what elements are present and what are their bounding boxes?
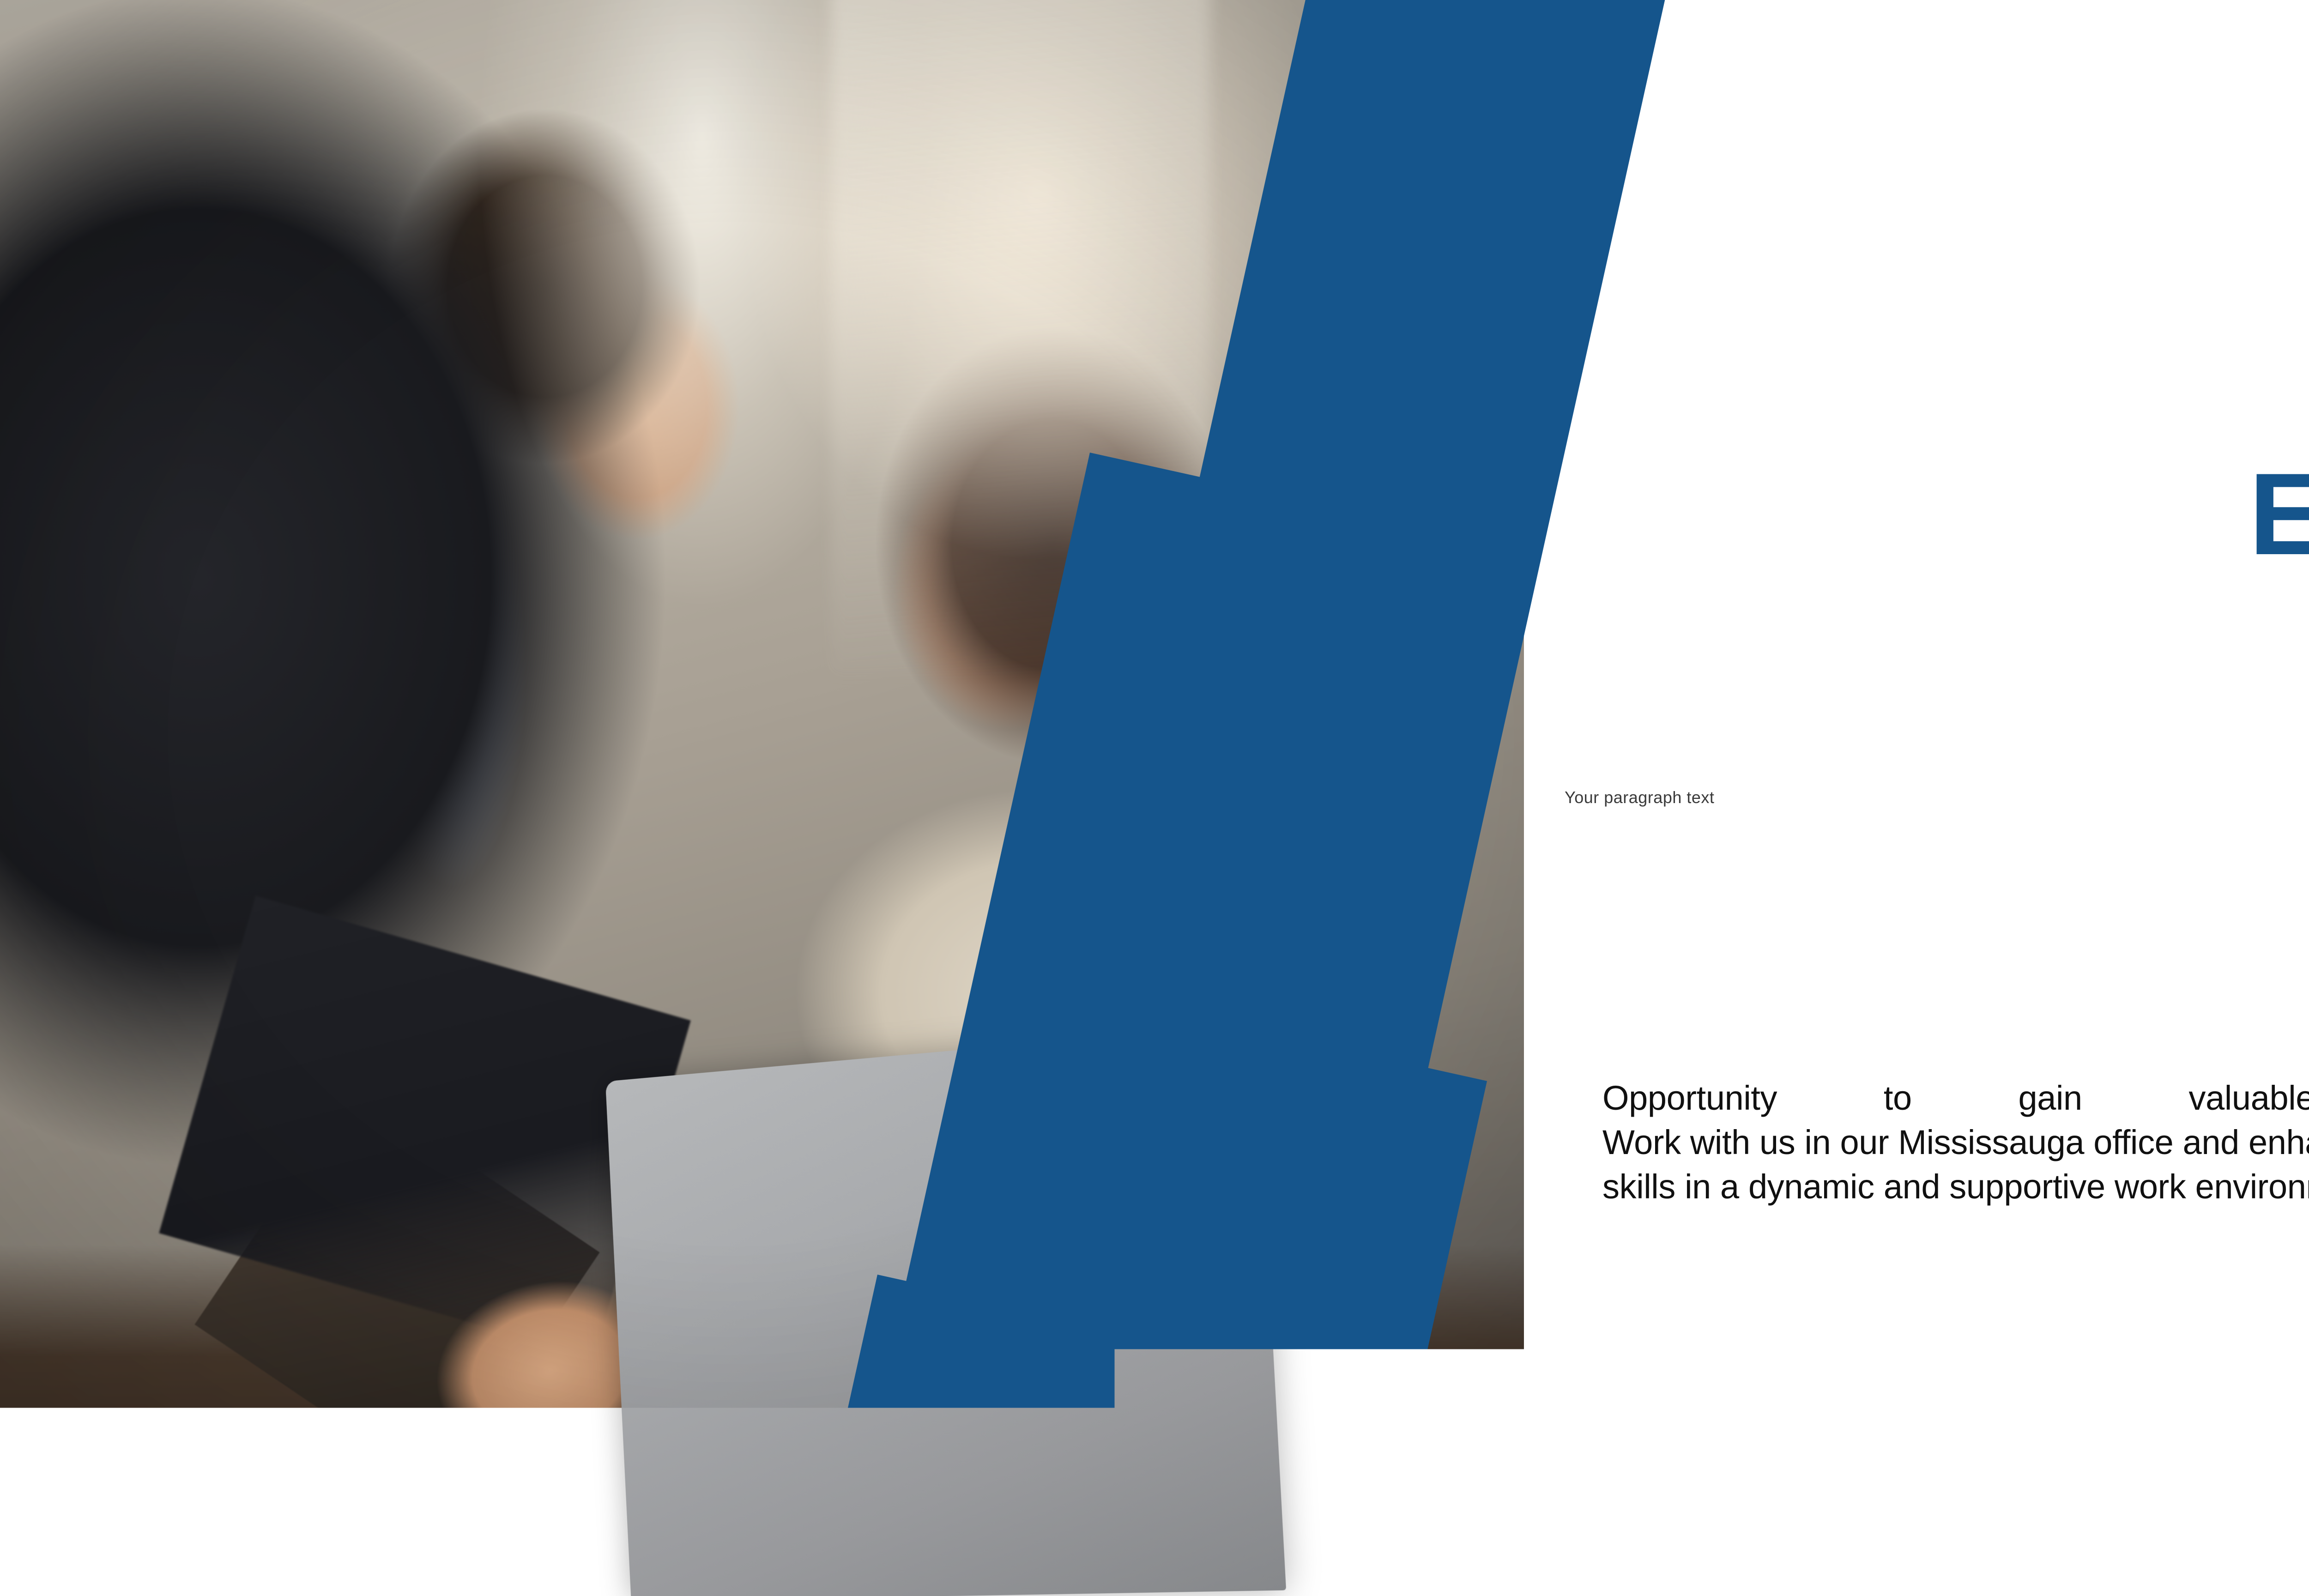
body-copy: Opportunity to gain valuable and hands-o… [1602,1076,2309,1209]
page-title: INTERACTIVE EXPERIENTIAL LEARNING [1672,342,2309,687]
body-copy-line-1: Opportunity to gain valuable and hands-o… [1602,1076,2309,1120]
body-copy-line-3: skills in a dynamic and supportive work … [1602,1165,2309,1209]
headline-line-1: INTERACTIVE [1672,342,2309,457]
placeholder-paragraph-note: Your paragraph text [1565,788,1714,807]
text-content: INTERACTIVE EXPERIENTIAL LEARNING Your p… [1672,0,2309,1596]
body-copy-line-2: Work with us in our Mississauga office a… [1602,1120,2309,1165]
promo-banner: INTERACTIVE EXPERIENTIAL LEARNING Your p… [0,0,2309,1596]
headline-line-2: EXPERIENTIAL [1672,457,2309,572]
headline-line-3: LEARNING [1672,572,2309,687]
